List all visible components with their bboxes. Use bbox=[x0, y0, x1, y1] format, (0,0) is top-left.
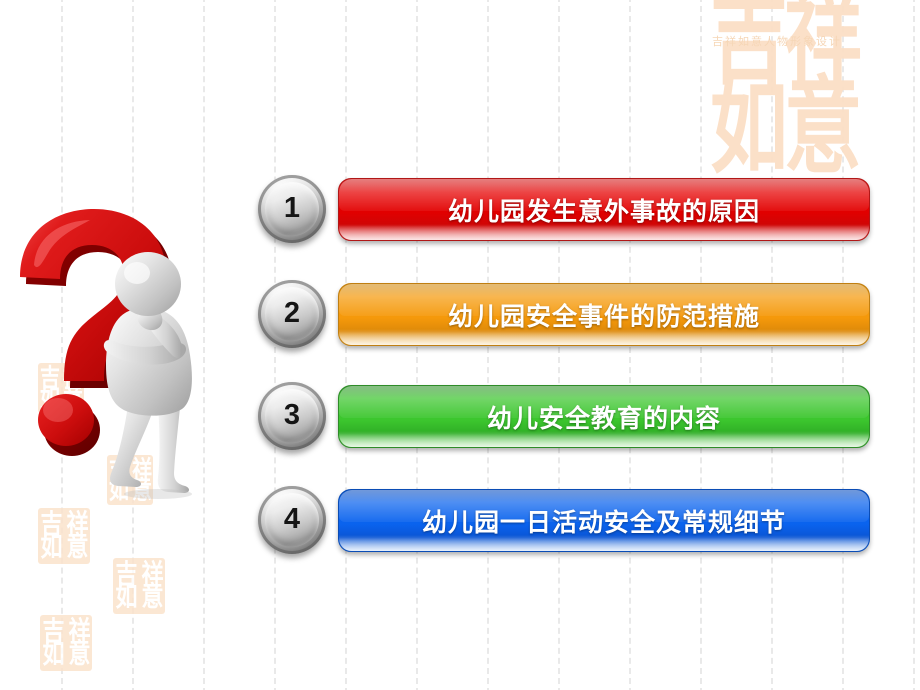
agenda-bar-1[interactable]: 幼儿园发生意外事故的原因 bbox=[338, 178, 870, 241]
agenda-row[interactable]: 4 幼儿园一日活动安全及常规细节 bbox=[258, 486, 870, 558]
agenda-number-badge: 4 bbox=[258, 486, 326, 554]
agenda-number: 3 bbox=[284, 401, 300, 430]
agenda-list: 1 幼儿园发生意外事故的原因 2 幼儿园安全事件的防范措施 3 bbox=[0, 0, 920, 690]
presentation-slide: 吉祥如意 吉祥如意人物形象设计 吉祥如意 吉祥如意 吉祥如意 吉祥如意 吉祥如意… bbox=[0, 0, 920, 690]
agenda-row[interactable]: 3 幼儿安全教育的内容 bbox=[258, 382, 870, 454]
agenda-number-badge-inner: 1 bbox=[265, 182, 319, 236]
agenda-number-badge: 2 bbox=[258, 280, 326, 348]
agenda-row[interactable]: 1 幼儿园发生意外事故的原因 bbox=[258, 175, 870, 247]
agenda-number-badge: 3 bbox=[258, 382, 326, 450]
agenda-number-badge: 1 bbox=[258, 175, 326, 243]
agenda-number-badge-inner: 3 bbox=[265, 389, 319, 443]
agenda-number-badge-inner: 2 bbox=[265, 287, 319, 341]
agenda-bar-2[interactable]: 幼儿园安全事件的防范措施 bbox=[338, 283, 870, 346]
agenda-number: 4 bbox=[284, 505, 300, 534]
agenda-bar-3[interactable]: 幼儿安全教育的内容 bbox=[338, 385, 870, 448]
agenda-bar-4[interactable]: 幼儿园一日活动安全及常规细节 bbox=[338, 489, 870, 552]
agenda-number: 2 bbox=[284, 299, 300, 328]
agenda-row[interactable]: 2 幼儿园安全事件的防范措施 bbox=[258, 280, 870, 352]
agenda-number-badge-inner: 4 bbox=[265, 493, 319, 547]
agenda-bar-label: 幼儿园发生意外事故的原因 bbox=[448, 192, 760, 228]
agenda-bar-label: 幼儿园一日活动安全及常规细节 bbox=[422, 503, 786, 539]
agenda-bar-label: 幼儿园安全事件的防范措施 bbox=[448, 297, 760, 333]
agenda-bar-label: 幼儿安全教育的内容 bbox=[487, 399, 721, 435]
agenda-number: 1 bbox=[284, 194, 300, 223]
